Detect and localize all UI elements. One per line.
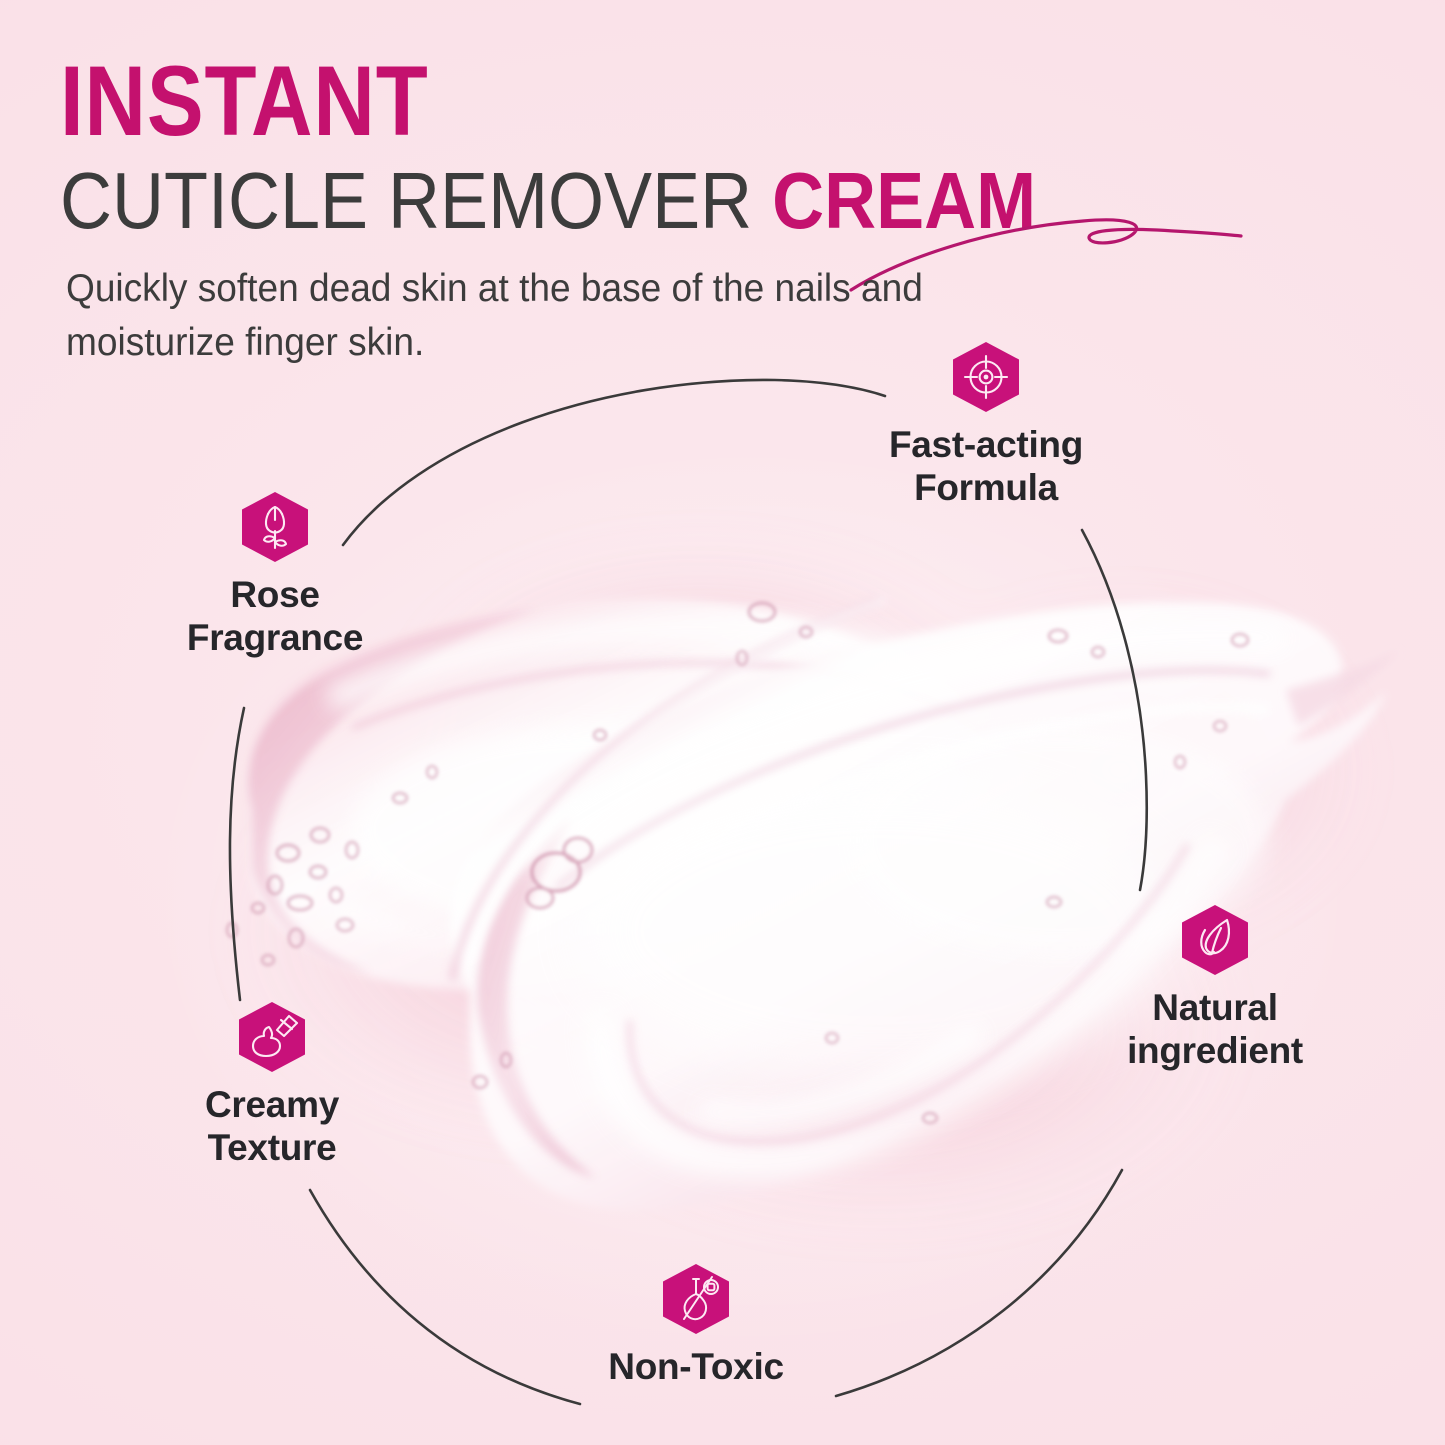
feature-badge-fast-acting[interactable]: Fast-acting Formula [836, 340, 1136, 510]
leaves-icon [1177, 903, 1253, 977]
cream-dollop-icon [234, 1000, 310, 1074]
page-title-secondary: CUTICLE REMOVER CREAM [60, 159, 1140, 243]
feature-badge-non-toxic[interactable]: Non-Toxic [546, 1262, 846, 1388]
arc-bottom-left [310, 1190, 580, 1404]
feature-badge-creamy-texture[interactable]: Creamy Texture [122, 1000, 422, 1170]
page-title-secondary-accent: CREAM [772, 156, 1036, 245]
product-feature-poster: INSTANT CUTICLE REMOVER CREAM Quickly so… [0, 0, 1445, 1445]
page-title-secondary-plain: CUTICLE REMOVER [60, 156, 772, 245]
page-title-primary: INSTANT [60, 52, 1092, 149]
arc-left [230, 708, 244, 1000]
rose-flower-icon [237, 490, 313, 564]
feature-badge-label: Rose Fragrance [125, 573, 425, 660]
target-icon [948, 340, 1024, 414]
arc-bottom-right [836, 1170, 1122, 1396]
feature-badge-label: Creamy Texture [122, 1083, 422, 1170]
arc-upper-right [1082, 530, 1147, 890]
feature-badge-label: Natural ingredient [1065, 986, 1365, 1073]
feature-badge-label: Non-Toxic [546, 1345, 846, 1388]
crossed-out-flask-icon [658, 1262, 734, 1336]
feature-badge-natural-ingredient[interactable]: Natural ingredient [1065, 903, 1365, 1073]
feature-badge-rose-fragrance[interactable]: Rose Fragrance [125, 490, 425, 660]
header-block: INSTANT CUTICLE REMOVER CREAM [60, 52, 1260, 243]
feature-badge-label: Fast-acting Formula [836, 423, 1136, 510]
